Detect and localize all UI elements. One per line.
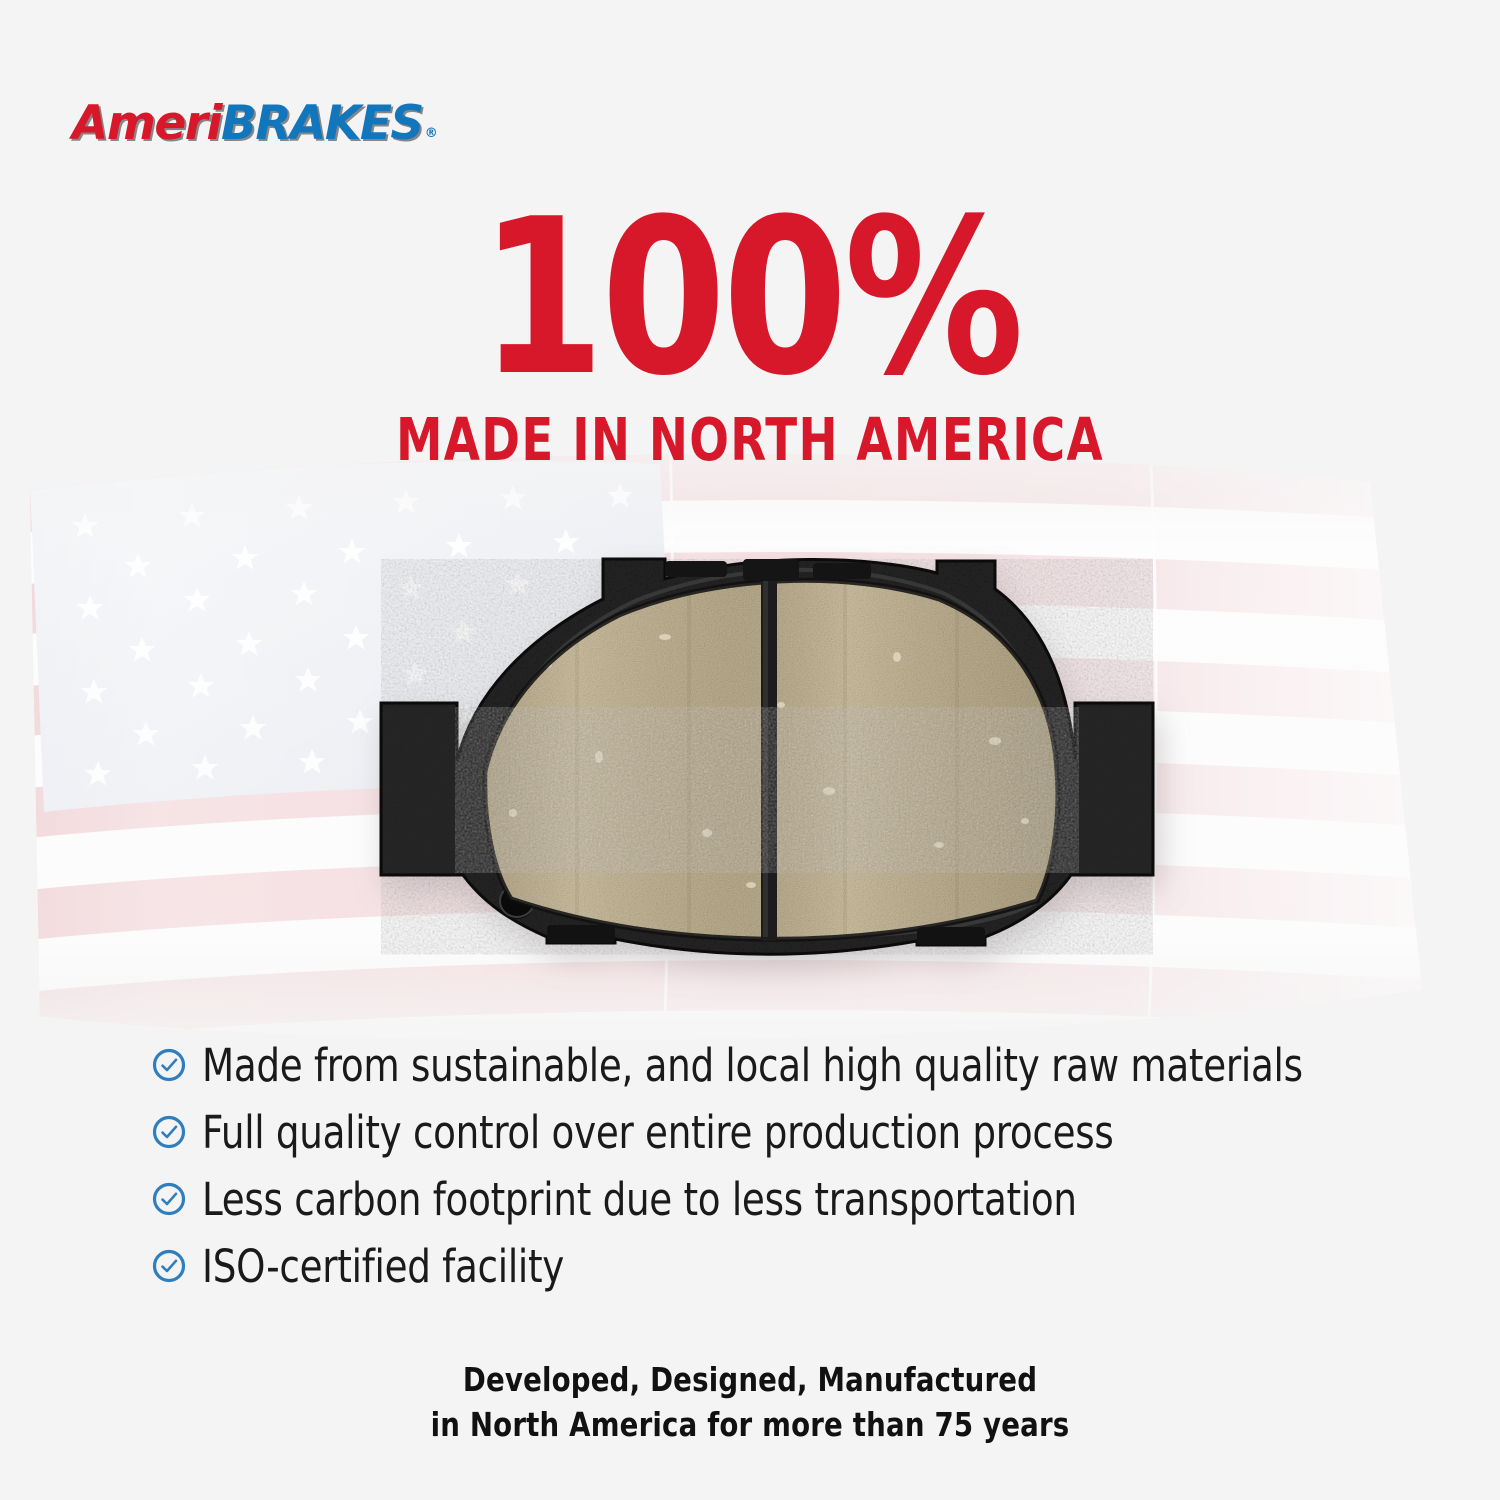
headline-subtitle: MADE IN NORTH AMERICA [90, 410, 1410, 469]
logo-text-ameri: Ameri [72, 100, 221, 147]
footer-line-2: in North America for more than 75 years [53, 1403, 1448, 1448]
feature-list: Made from sustainable, and local high qu… [152, 1040, 1402, 1308]
list-item-label: Less carbon footprint due to less transp… [202, 1177, 1077, 1222]
list-item-label: Full quality control over entire product… [202, 1110, 1114, 1155]
list-item-label: ISO-certified facility [202, 1244, 564, 1289]
promo-banner: AmeriBRAKES® 100% MADE IN NORTH AMERICA [0, 0, 1500, 1500]
list-item: Made from sustainable, and local high qu… [152, 1040, 1402, 1090]
check-circle-icon [152, 1115, 186, 1149]
list-item-label: Made from sustainable, and local high qu… [202, 1043, 1303, 1088]
registered-trademark-icon: ® [425, 127, 437, 140]
ameribrakes-logo[interactable]: AmeriBRAKES® [72, 100, 436, 147]
headline-block: 100% MADE IN NORTH AMERICA [0, 196, 1500, 469]
list-item: Full quality control over entire product… [152, 1107, 1402, 1157]
page-title: 100% [53, 196, 1448, 400]
list-item: Less carbon footprint due to less transp… [152, 1174, 1402, 1224]
brake-pad-product-image [195, 545, 1335, 1015]
check-circle-icon [152, 1249, 186, 1283]
check-circle-icon [152, 1048, 186, 1082]
check-circle-icon [152, 1182, 186, 1216]
list-item: ISO-certified facility [152, 1241, 1402, 1291]
logo-text-brakes: BRAKES [221, 100, 423, 147]
footer-tagline: Developed, Designed, Manufactured in Nor… [0, 1358, 1500, 1447]
footer-line-1: Developed, Designed, Manufactured [53, 1358, 1448, 1403]
